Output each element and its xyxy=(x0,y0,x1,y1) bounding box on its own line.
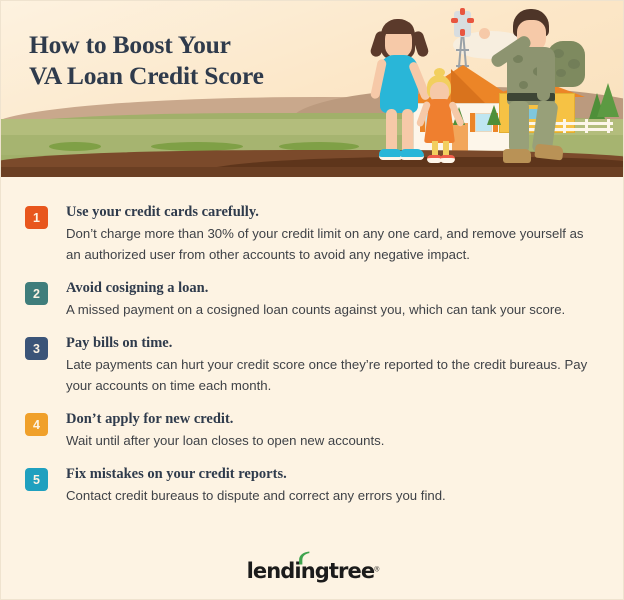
leg-left xyxy=(509,101,529,153)
tip-text-3: Late payments can hurt your credit score… xyxy=(66,354,599,396)
infographic-root: How to Boost Your VA Loan Credit Score 1… xyxy=(0,0,624,600)
header-illustration: How to Boost Your VA Loan Credit Score xyxy=(1,1,624,177)
tip-body-4: Don’t apply for new credit. Wait until a… xyxy=(66,410,599,451)
tips-list: 1 Use your credit cards carefully. Don’t… xyxy=(1,177,624,520)
leaf-icon xyxy=(298,551,311,565)
soldier-character xyxy=(493,7,589,167)
tip-text-2: A missed payment on a cosigned loan coun… xyxy=(66,299,599,320)
boot xyxy=(503,149,531,163)
hair-bangs xyxy=(383,21,414,34)
boot xyxy=(534,144,563,161)
arm-down xyxy=(537,61,550,101)
tip-item-2: 2 Avoid cosigning a loan. A missed payme… xyxy=(1,279,624,320)
tip-body-5: Fix mistakes on your credit reports. Con… xyxy=(66,465,599,506)
tip-text-1: Don’t charge more than 30% of your credi… xyxy=(66,223,599,265)
tip-text-5: Contact credit bureaus to dispute and co… xyxy=(66,485,599,506)
tip-number-badge-3: 3 xyxy=(25,337,48,360)
logo-trademark: ® xyxy=(374,567,379,574)
tip-text-4: Wait until after your loan closes to ope… xyxy=(66,430,599,451)
tip-body-2: Avoid cosigning a loan. A missed payment… xyxy=(66,279,599,320)
hand xyxy=(479,28,490,39)
footer: lendingtree® xyxy=(1,552,624,583)
tip-title-1: Use your credit cards carefully. xyxy=(66,203,599,222)
tower-light xyxy=(451,18,458,23)
tip-number-badge-5: 5 xyxy=(25,468,48,491)
ground-strip xyxy=(1,167,624,177)
camo-spot xyxy=(519,81,528,89)
lendingtree-logo[interactable]: lendingtree® xyxy=(247,552,380,583)
tower-light xyxy=(460,29,465,36)
page-title: How to Boost Your VA Loan Credit Score xyxy=(29,29,359,91)
title-line-2: VA Loan Credit Score xyxy=(29,60,359,91)
camo-spot xyxy=(556,69,566,77)
pine-tree xyxy=(597,83,619,117)
bush-patch xyxy=(49,142,101,151)
tip-item-5: 5 Fix mistakes on your credit reports. C… xyxy=(1,465,624,506)
tip-number-badge-4: 4 xyxy=(25,413,48,436)
girl-character xyxy=(419,73,463,163)
tower-light xyxy=(460,8,465,15)
tip-title-5: Fix mistakes on your credit reports. xyxy=(66,465,599,484)
tip-title-2: Avoid cosigning a loan. xyxy=(66,279,599,298)
tip-number-badge-2: 2 xyxy=(25,282,48,305)
tip-title-3: Pay bills on time. xyxy=(66,334,599,353)
tip-item-4: 4 Don’t apply for new credit. Wait until… xyxy=(1,410,624,451)
tower-light xyxy=(467,18,474,23)
fence-post xyxy=(607,119,610,133)
tip-number-badge-1: 1 xyxy=(25,206,48,229)
tip-item-1: 1 Use your credit cards carefully. Don’t… xyxy=(1,203,624,265)
tip-title-4: Don’t apply for new credit. xyxy=(66,410,599,429)
tower-brace xyxy=(456,49,469,51)
tip-body-3: Pay bills on time. Late payments can hur… xyxy=(66,334,599,396)
tip-body-1: Use your credit cards carefully. Don’t c… xyxy=(66,203,599,265)
tip-item-3: 3 Pay bills on time. Late payments can h… xyxy=(1,334,624,396)
title-line-1: How to Boost Your xyxy=(29,29,359,60)
shoe xyxy=(440,155,455,163)
camo-spot xyxy=(568,59,580,69)
